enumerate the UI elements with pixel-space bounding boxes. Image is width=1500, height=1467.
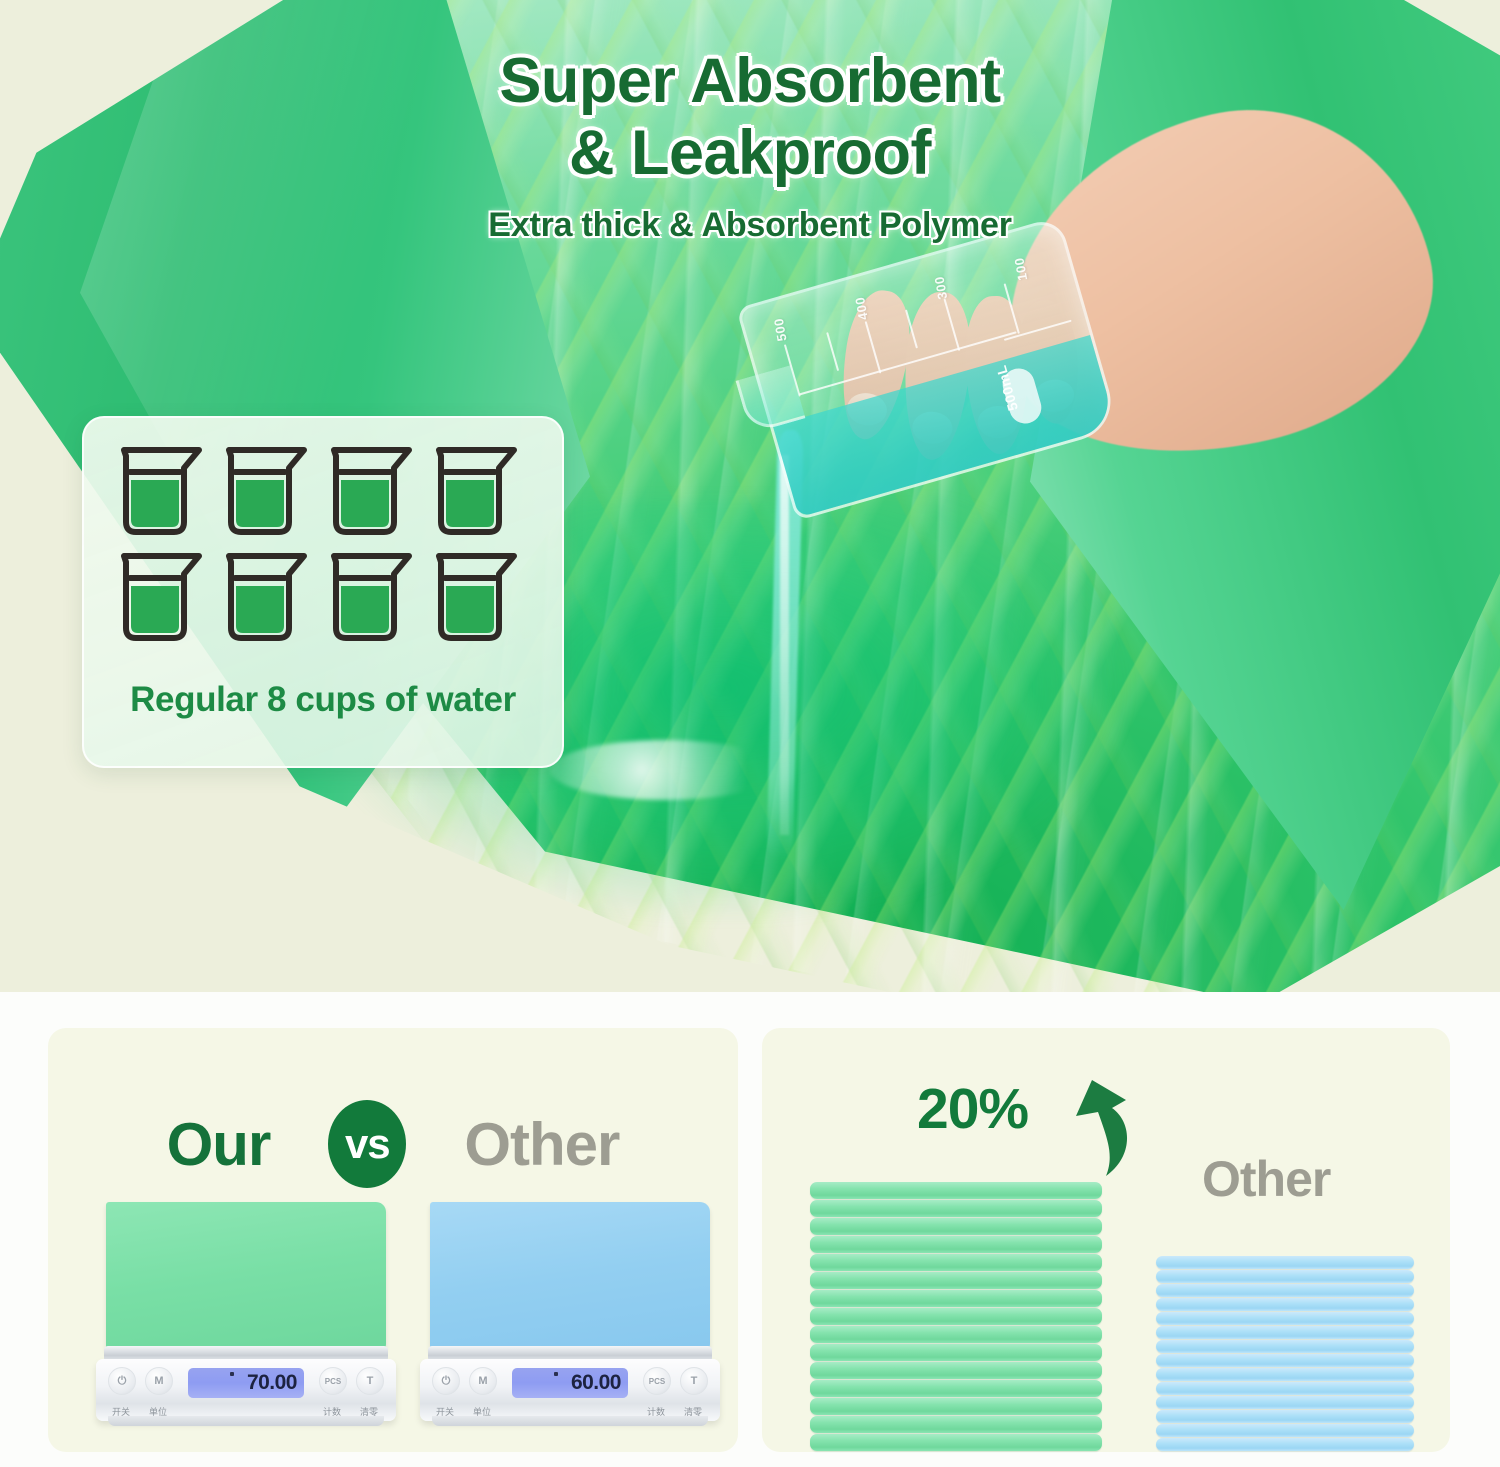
beaker-icon [114,442,209,540]
count-button[interactable]: PCS [319,1367,347,1395]
cup-icon [114,442,209,540]
beaker-icon [219,548,314,646]
stack-layer [810,1200,1102,1217]
beaker-tick [943,298,960,350]
other-scale-reading: 60.00 [571,1371,621,1395]
hero-headline: Super Absorbent & Leakproof Extra thick … [0,46,1500,245]
stack-layer [1156,1270,1414,1283]
scale-display: 70.00 [188,1368,304,1398]
other-stack-label: Other [1202,1150,1330,1208]
our-scale: ⏻ 开关 M 单位 70.00 [96,1202,396,1434]
stack-layer [1156,1340,1414,1353]
stack-layer [1156,1396,1414,1409]
stack-layer [1156,1284,1414,1297]
other-label: Other [464,1110,619,1179]
cup-icon [324,442,419,540]
scale-body: ⏻ 开关 M 单位 70.00 [96,1346,396,1434]
stack-layer [1156,1438,1414,1451]
our-label: Our [167,1110,271,1179]
power-button[interactable]: ⏻ [432,1367,460,1395]
stack-layer [810,1434,1102,1451]
comparison-header: Our vs Other [48,1100,738,1188]
stack-layer [810,1236,1102,1253]
tare-button[interactable]: T [680,1367,708,1395]
scale-foot [108,1416,384,1426]
stack-layer [1156,1424,1414,1437]
beaker-graduation-400: 400 [852,296,871,321]
tare-button[interactable]: T [356,1367,384,1395]
scale-buttons-left: ⏻ 开关 M 单位 [432,1367,497,1395]
beaker-icon [429,548,524,646]
our-scale-reading: 70.00 [247,1371,297,1395]
unit-button[interactable]: M [469,1367,497,1395]
stack-layer [810,1182,1102,1199]
scale-base: ⏻ 开关 M 单位 70.00 [96,1359,396,1421]
stack-layer [810,1344,1102,1361]
scale-display: 60.00 [512,1368,628,1398]
display-indicator-dot [230,1372,234,1376]
unit-button[interactable]: M [145,1367,173,1395]
our-pad-sample [106,1202,386,1352]
beaker-icon [114,548,209,646]
stack-layer [1156,1326,1414,1339]
beaker-tick [865,321,882,373]
count-button[interactable]: PCS [643,1367,671,1395]
stack-layer [1156,1382,1414,1395]
hero-subheadline: Extra thick & Absorbent Polymer [0,206,1500,245]
cup-icon-grid [114,442,534,646]
scale-buttons-right: PCS 计数 T 清零 [643,1367,708,1395]
stack-layer [810,1326,1102,1343]
other-thickness-stack [1156,1256,1414,1452]
stack-layer [1156,1312,1414,1325]
curved-arrow-up-left-icon [1062,1070,1182,1190]
stack-layer [1156,1368,1414,1381]
beaker-graduation-100: 100 [1011,256,1030,281]
scale-body: ⏻ 开关 M 单位 60.00 [420,1346,720,1434]
vs-badge: vs [328,1100,406,1188]
stack-layer [1156,1256,1414,1269]
water-stream-highlight [780,455,789,835]
beaker-icon [324,442,419,540]
scale-base: ⏻ 开关 M 单位 60.00 [420,1359,720,1421]
beaker-icon [429,442,524,540]
stack-layer [810,1218,1102,1235]
cup-icon [324,548,419,646]
beaker-graduation-500: 500 [771,317,790,342]
beaker-tick [905,310,918,349]
stack-layer [810,1290,1102,1307]
beaker-tick [826,332,839,371]
product-infographic: 500 400 300 100 500mL Super Absorbent & … [0,0,1500,1467]
scale-foot [432,1416,708,1426]
display-indicator-dot [554,1372,558,1376]
beaker-graduation-300: 300 [931,275,950,300]
bottom-section: Our vs Other ⏻ 开关 [0,992,1500,1467]
water-capacity-card: Regular 8 cups of water [82,416,564,768]
beaker-icon [324,548,419,646]
stack-layer [810,1380,1102,1397]
scale-buttons-right: PCS 计数 T 清零 [319,1367,384,1395]
scale-buttons-left: ⏻ 开关 M 单位 [108,1367,173,1395]
beaker-icon [219,442,314,540]
stack-layer [1156,1298,1414,1311]
beaker-tick [1004,283,1020,334]
headline-line-1: Super Absorbent [0,46,1500,118]
other-pad-sample [430,1202,710,1352]
thickness-comparison-panel: 20% Other [762,1028,1450,1452]
power-button[interactable]: ⏻ [108,1367,136,1395]
headline-line-2: & Leakproof [0,118,1500,190]
cup-icon [114,548,209,646]
stack-layer [810,1416,1102,1433]
cup-icon [429,548,524,646]
stack-layer [810,1362,1102,1379]
weight-comparison-panel: Our vs Other ⏻ 开关 [48,1028,738,1452]
stack-layer [810,1308,1102,1325]
stack-layer [810,1272,1102,1289]
thickness-percent-label: 20% [917,1076,1028,1142]
our-thickness-stack [810,1182,1102,1452]
stack-layer [810,1254,1102,1271]
cup-icon [219,548,314,646]
cups-caption: Regular 8 cups of water [84,680,562,720]
stack-layer [1156,1410,1414,1423]
cup-icon [429,442,524,540]
hero-section: 500 400 300 100 500mL Super Absorbent & … [0,0,1500,992]
cup-icon [219,442,314,540]
stack-layer [810,1398,1102,1415]
other-scale: ⏻ 开关 M 单位 60.00 [420,1202,720,1434]
stack-layer [1156,1354,1414,1367]
water-foam [550,740,780,800]
